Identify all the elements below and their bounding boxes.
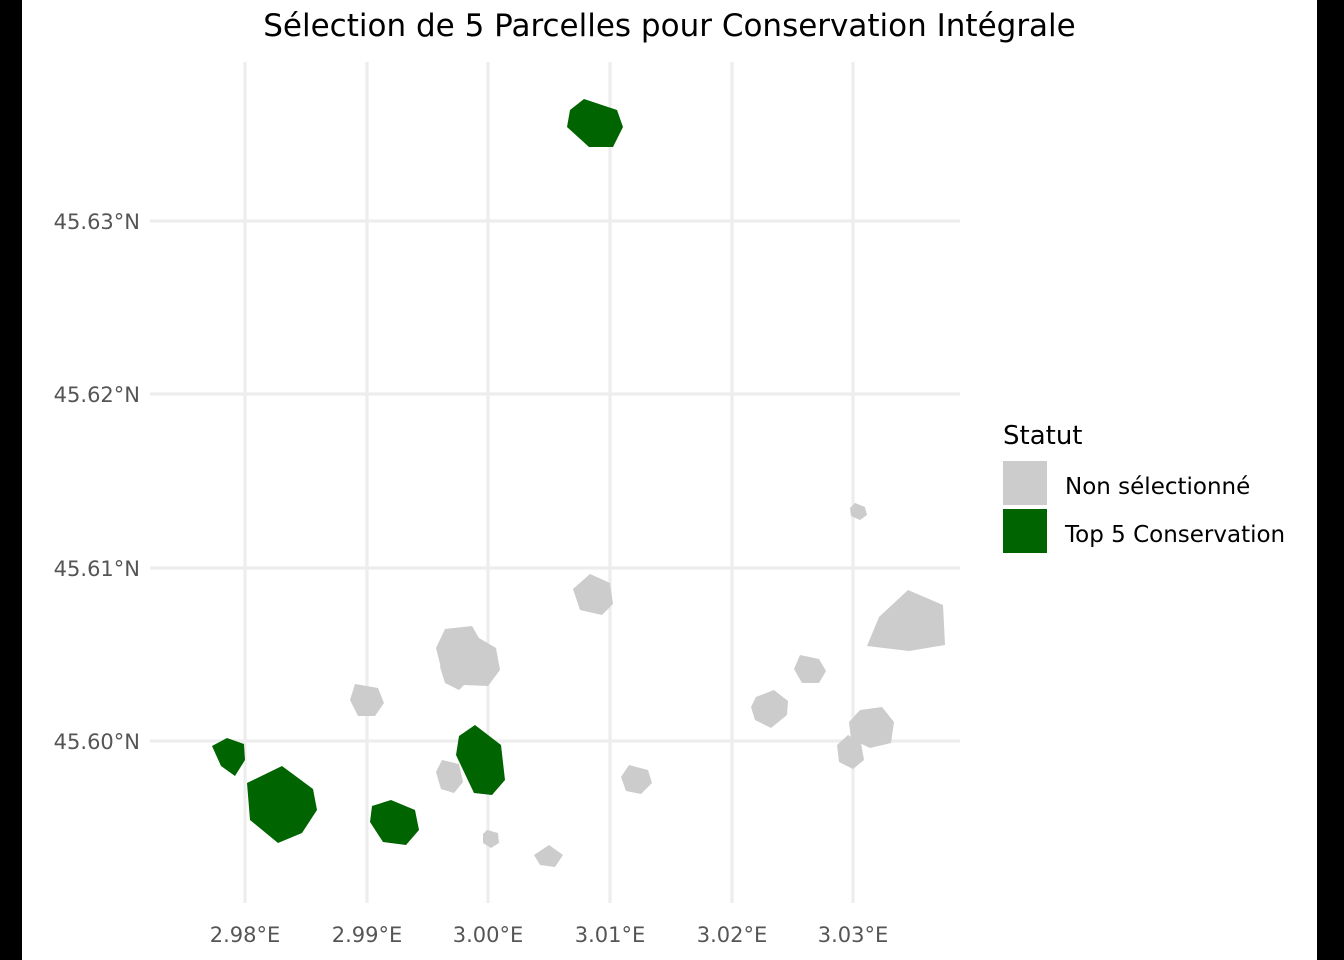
parcel-polygon[interactable]	[247, 766, 317, 843]
parcel-polygon[interactable]	[212, 738, 245, 776]
parcel-polygon[interactable]	[350, 684, 384, 716]
parcel-polygon[interactable]	[483, 830, 499, 848]
parcel-polygon[interactable]	[436, 760, 463, 793]
x-tick-label: 2.99°E	[332, 923, 403, 947]
legend-label-top-5-conservation: Top 5 Conservation	[1064, 522, 1285, 548]
parcel-polygon[interactable]	[456, 725, 505, 795]
parcel-polygon[interactable]	[867, 590, 945, 651]
x-axis-tick-labels: 2.98°E 2.99°E 3.00°E 3.01°E 3.02°E 3.03°…	[210, 923, 889, 947]
gridlines-vertical	[245, 62, 853, 903]
y-tick-label: 45.61°N	[54, 557, 140, 581]
legend-title: Statut	[1003, 421, 1083, 451]
x-tick-label: 2.98°E	[210, 923, 281, 947]
parcel-map-plot: 45.63°N 45.62°N 45.61°N 45.60°N 2.98°E 2…	[22, 0, 1317, 960]
legend-swatch-top-5-conservation[interactable]	[1003, 509, 1047, 553]
x-tick-label: 3.02°E	[697, 923, 768, 947]
parcel-polygon[interactable]	[370, 800, 419, 845]
parcel-polygon[interactable]	[534, 845, 563, 867]
legend-label-non-selectionne: Non sélectionné	[1065, 474, 1250, 500]
y-tick-label: 45.63°N	[54, 210, 140, 234]
legend-swatch-non-selectionne[interactable]	[1003, 461, 1047, 505]
chart-canvas: Sélection de 5 Parcelles pour Conservati…	[22, 0, 1317, 960]
x-tick-label: 3.01°E	[575, 923, 646, 947]
gridlines-horizontal	[150, 221, 960, 741]
parcel-polygon[interactable]	[567, 99, 623, 147]
parcel-polygon-layer	[212, 99, 945, 867]
x-tick-label: 3.00°E	[453, 923, 524, 947]
y-axis-tick-labels: 45.63°N 45.62°N 45.61°N 45.60°N	[54, 210, 140, 754]
legend: Statut Non sélectionné Top 5 Conservatio…	[1003, 421, 1285, 553]
y-tick-label: 45.60°N	[54, 730, 140, 754]
parcel-polygon[interactable]	[751, 690, 788, 728]
x-tick-label: 3.03°E	[818, 923, 889, 947]
parcel-polygon[interactable]	[794, 655, 826, 683]
parcel-polygon[interactable]	[621, 765, 652, 794]
y-tick-label: 45.62°N	[54, 383, 140, 407]
chart-page: Sélection de 5 Parcelles pour Conservati…	[0, 0, 1344, 960]
parcel-polygon[interactable]	[573, 574, 613, 615]
